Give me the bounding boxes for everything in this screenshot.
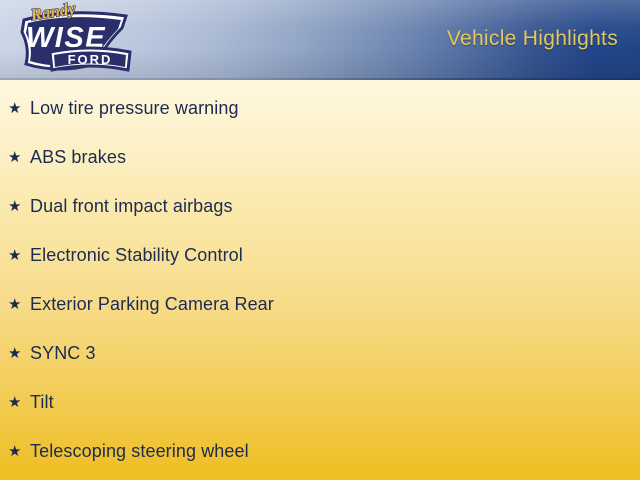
list-item: ★ Electronic Stability Control (8, 242, 243, 268)
star-bullet-icon: ★ (8, 101, 30, 116)
star-bullet-icon: ★ (8, 199, 30, 214)
star-bullet-icon: ★ (8, 395, 30, 410)
list-item: ★ Telescoping steering wheel (8, 438, 249, 464)
list-item-label: Electronic Stability Control (30, 246, 243, 264)
page-title: Vehicle Highlights (447, 27, 618, 51)
list-item: ★ Exterior Parking Camera Rear (8, 291, 274, 317)
star-bullet-icon: ★ (8, 444, 30, 459)
star-bullet-icon: ★ (8, 248, 30, 263)
logo-ford-text: FORD (68, 52, 113, 67)
list-item-label: Dual front impact airbags (30, 197, 233, 215)
vehicle-highlights-page: Vehicle Highlights WISE Randy FORD ★ Low… (0, 0, 640, 480)
list-item-label: ABS brakes (30, 148, 126, 166)
list-item-label: Exterior Parking Camera Rear (30, 295, 274, 313)
vehicle-highlights-list: ★ Low tire pressure warning ★ ABS brakes… (0, 80, 640, 480)
star-bullet-icon: ★ (8, 297, 30, 312)
list-item-label: Telescoping steering wheel (30, 442, 249, 460)
list-item: ★ Low tire pressure warning (8, 95, 239, 121)
list-item: ★ Tilt (8, 389, 54, 415)
list-item-label: SYNC 3 (30, 344, 96, 362)
list-item-label: Tilt (30, 393, 54, 411)
list-item-label: Low tire pressure warning (30, 99, 239, 117)
list-item: ★ SYNC 3 (8, 340, 96, 366)
star-bullet-icon: ★ (8, 346, 30, 361)
list-item: ★ ABS brakes (8, 144, 126, 170)
star-bullet-icon: ★ (8, 150, 30, 165)
list-item: ★ Dual front impact airbags (8, 193, 233, 219)
dealer-logo[interactable]: WISE Randy FORD (8, 2, 136, 78)
